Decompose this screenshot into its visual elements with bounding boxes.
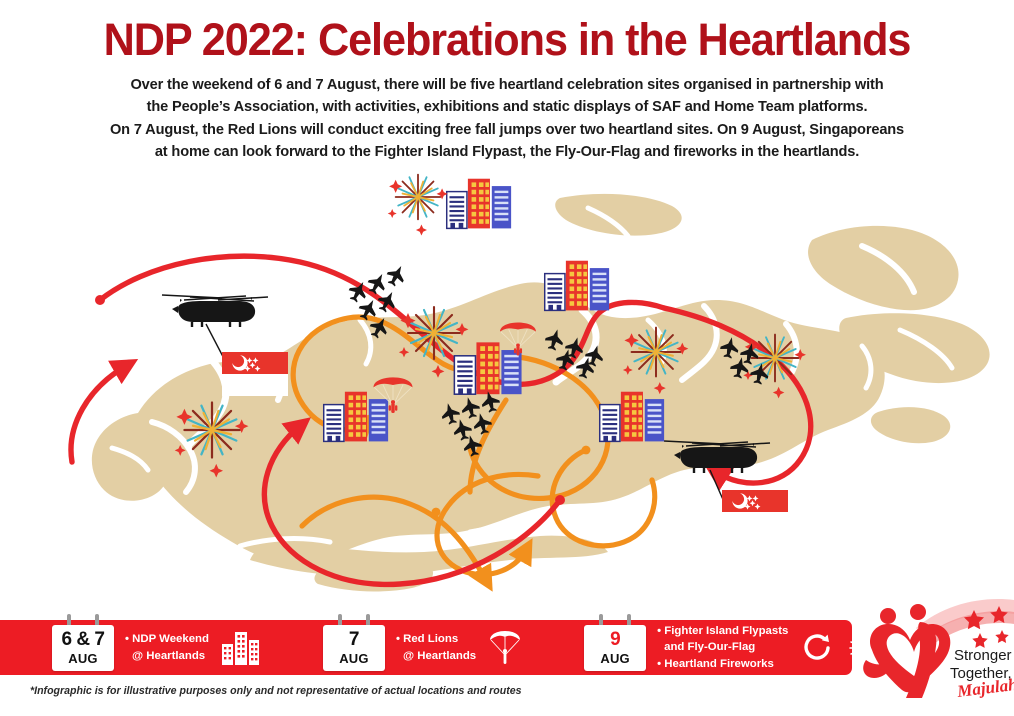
route-node xyxy=(582,446,591,455)
singapore-map xyxy=(0,160,1014,605)
ndp-logo: Stronger Together, Majulah! xyxy=(858,598,1014,702)
calendar-day: 9 xyxy=(610,630,620,649)
legend-line: @ Heartlands xyxy=(396,648,476,664)
calendar-month: AUG xyxy=(68,652,98,665)
calendar-icon-6-7-aug: 6 & 7 AUG xyxy=(52,625,114,671)
legend-text-9-aug: Fighter Island Flypasts and Fly-Our-Flag… xyxy=(657,623,788,672)
calendar-body: 6 & 7 AUG xyxy=(52,625,114,671)
legend-item-9-aug: 9 AUG Fighter Island Flypasts and Fly-Ou… xyxy=(584,620,888,675)
footnote: *Infographic is for illustrative purpose… xyxy=(30,685,522,697)
flypast-circle-icon xyxy=(800,631,834,665)
calendar-month: AUG xyxy=(600,652,630,665)
buildings-icon xyxy=(221,630,261,666)
map-container xyxy=(0,160,1014,605)
singapore-flag-east xyxy=(722,490,788,534)
route-node xyxy=(432,508,441,517)
calendar-day: 6 & 7 xyxy=(62,630,105,649)
calendar-month: AUG xyxy=(339,652,369,665)
calendar-body: 9 AUG xyxy=(584,625,646,671)
singapore-flag-west xyxy=(222,352,288,396)
calendar-icon-9-aug: 9 AUG xyxy=(584,625,646,671)
subtitle-line-3: On 7 August, the Red Lions will conduct … xyxy=(0,119,1014,141)
calendar-body: 7 AUG xyxy=(323,625,385,671)
legend-line: Red Lions xyxy=(396,631,476,647)
header: NDP 2022: Celebrations in the Heartlands… xyxy=(0,0,1014,163)
calendar-icon-7-aug: 7 AUG xyxy=(323,625,385,671)
route-node xyxy=(95,295,105,305)
legend-line: Fighter Island Flypasts xyxy=(657,623,788,639)
infographic-page: NDP 2022: Celebrations in the Heartlands… xyxy=(0,0,1014,716)
legend-text-ndp-weekend: NDP Weekend @ Heartlands xyxy=(125,631,209,663)
logo-line-1: Stronger xyxy=(954,647,1012,664)
legend-item-red-lions: 7 AUG Red Lions @ Heartlands xyxy=(323,620,522,675)
legend-line: Heartland Fireworks xyxy=(657,656,788,672)
legend-bar: 6 & 7 AUG NDP Weekend @ Heartlands xyxy=(0,620,852,675)
celebration-site-north xyxy=(447,179,511,229)
parachutist-icon xyxy=(488,628,522,668)
legend-line: @ Heartlands xyxy=(125,648,209,664)
subtitle-block: Over the weekend of 6 and 7 August, ther… xyxy=(0,74,1014,163)
celebration-site-northeast xyxy=(545,261,609,311)
legend-text-red-lions: Red Lions @ Heartlands xyxy=(396,631,476,663)
page-title: NDP 2022: Celebrations in the Heartlands xyxy=(20,16,993,63)
legend-item-ndp-weekend: 6 & 7 AUG NDP Weekend @ Heartlands xyxy=(52,620,261,675)
legend-line: and Fly-Our-Flag xyxy=(657,639,788,655)
subtitle-line-1: Over the weekend of 6 and 7 August, ther… xyxy=(0,74,1014,96)
route-node xyxy=(555,495,565,505)
legend-line: NDP Weekend xyxy=(125,631,209,647)
calendar-day: 7 xyxy=(349,630,359,649)
fireworks-north xyxy=(388,175,448,236)
subtitle-line-2: the People’s Association, with activitie… xyxy=(0,96,1014,118)
